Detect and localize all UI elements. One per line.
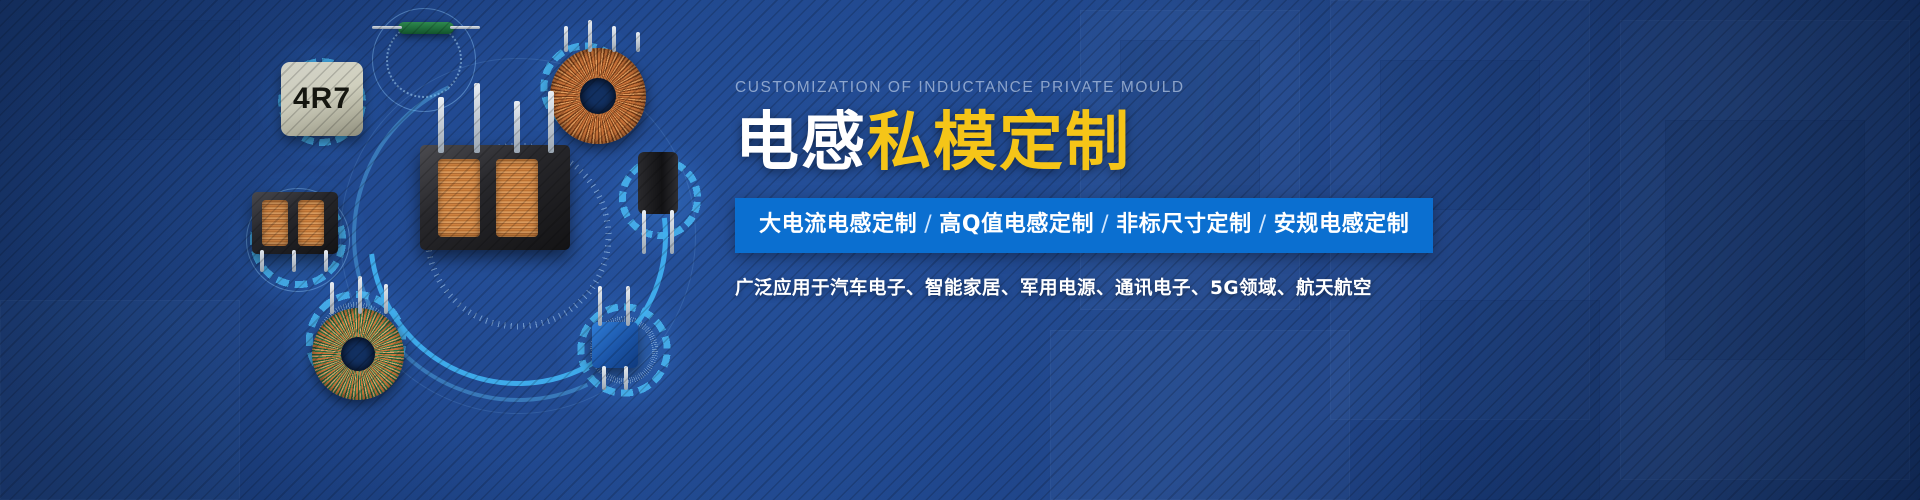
page-title: 电感私模定制 [735,110,1395,177]
product-axial-inductor [398,22,454,34]
product-green-toroid-coil [312,308,404,400]
product-radial-drum-inductor [638,152,678,214]
feature-separator-1: / [924,212,932,237]
headline-white-part: 电感 [735,106,867,180]
feature-separator-2: / [1101,212,1109,237]
feature-item-2: 高Q值电感定制 [939,212,1094,237]
promo-banner: 4R7 [0,0,1920,500]
english-subtitle: CUSTOMIZATION OF INDUCTANCE PRIVATE MOUL… [735,80,1395,96]
feature-item-3: 非标尺寸定制 [1116,212,1252,237]
feature-separator-3: / [1259,212,1267,237]
feature-item-1: 大电流电感定制 [759,212,917,237]
product-common-mode-choke-cluster [420,145,570,250]
smd-marking-label: 4R7 [281,62,363,136]
applications-text: 广泛应用于汽车电子、智能家居、军用电源、通讯电子、5G领域、航天航空 [735,280,1395,299]
feature-item-4: 安规电感定制 [1274,212,1410,237]
product-smd-power-inductor: 4R7 [281,62,363,136]
feature-bar: 大电流电感定制/高Q值电感定制/非标尺寸定制/安规电感定制 [735,198,1433,253]
product-bobbin-transformer [252,192,338,254]
product-toroidal-common-mode-choke [550,48,646,144]
headline-yellow-part: 私模定制 [867,106,1131,180]
product-blue-trimmer-coil [592,322,638,368]
banner-copy: CUSTOMIZATION OF INDUCTANCE PRIVATE MOUL… [735,80,1395,299]
